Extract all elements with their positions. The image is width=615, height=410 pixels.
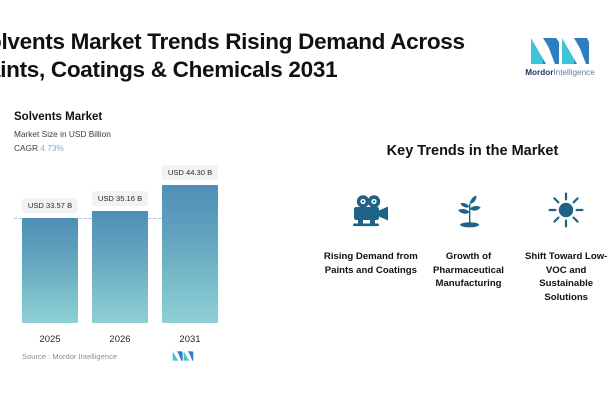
chart-title: Solvents Market bbox=[14, 110, 234, 125]
source-text: Source : Mordor Intelligence bbox=[22, 352, 117, 361]
cagr-value: 4.73% bbox=[40, 143, 64, 153]
x-axis-tick-2031: 2031 bbox=[162, 334, 218, 345]
page-title: olvents Market Trends Rising Demand Acro… bbox=[0, 28, 488, 84]
plant-sprout-icon bbox=[449, 190, 489, 230]
bar-2026 bbox=[92, 211, 148, 323]
brand-name-light: Intelligence bbox=[553, 68, 594, 77]
bar-value-label-2031: USD 44.30 B bbox=[162, 165, 218, 180]
trend-label-low-voc: Shift Toward Low-VOC and Sustainable Sol… bbox=[518, 250, 614, 304]
bar-2031 bbox=[162, 185, 218, 323]
trend-label-pharma-growth: Growth of Pharmaceutical Manufacturing bbox=[421, 250, 517, 291]
brand-logo: MordorIntelligence bbox=[517, 36, 603, 82]
chart-header: Solvents Market Market Size in USD Billi… bbox=[14, 110, 234, 154]
chart-cagr: CAGR 4.73% bbox=[14, 142, 234, 154]
key-trends-heading: Key Trends in the Market bbox=[330, 143, 615, 159]
page-title-line-2: aints, Coatings & Chemicals 2031 bbox=[0, 56, 488, 84]
trend-item-rising-demand: Rising Demand from Paints and Coatings bbox=[322, 190, 420, 304]
bar-chart-plot: USD 33.57 B USD 35.16 B USD 44.30 B 2025… bbox=[0, 160, 230, 360]
sun-icon bbox=[546, 190, 586, 230]
mordor-logo-mark-icon bbox=[172, 350, 194, 362]
mordor-logo-icon bbox=[529, 36, 591, 66]
infographic-page: olvents Market Trends Rising Demand Acro… bbox=[0, 0, 615, 410]
trend-item-pharma-growth: Growth of Pharmaceutical Manufacturing bbox=[420, 190, 518, 304]
page-title-line-1: olvents Market Trends Rising Demand Acro… bbox=[0, 28, 488, 56]
key-trends-list: Rising Demand from Paints and Coatings G… bbox=[322, 190, 615, 304]
x-axis-tick-2026: 2026 bbox=[92, 334, 148, 345]
trend-item-low-voc: Shift Toward Low-VOC and Sustainable Sol… bbox=[517, 190, 615, 304]
chart-subtitle: Market Size in USD Billion bbox=[14, 128, 234, 140]
trend-label-rising-demand: Rising Demand from Paints and Coatings bbox=[323, 250, 419, 277]
film-camera-icon bbox=[351, 190, 391, 230]
brand-logo-wordmark: MordorIntelligence bbox=[517, 68, 603, 77]
x-axis-tick-2025: 2025 bbox=[22, 334, 78, 345]
brand-name-bold: Mordor bbox=[525, 68, 553, 77]
bar-2025 bbox=[22, 218, 78, 323]
bar-value-label-2026: USD 35.16 B bbox=[92, 191, 148, 206]
bar-value-label-2025: USD 33.57 B bbox=[22, 198, 78, 213]
cagr-label: CAGR bbox=[14, 143, 38, 153]
